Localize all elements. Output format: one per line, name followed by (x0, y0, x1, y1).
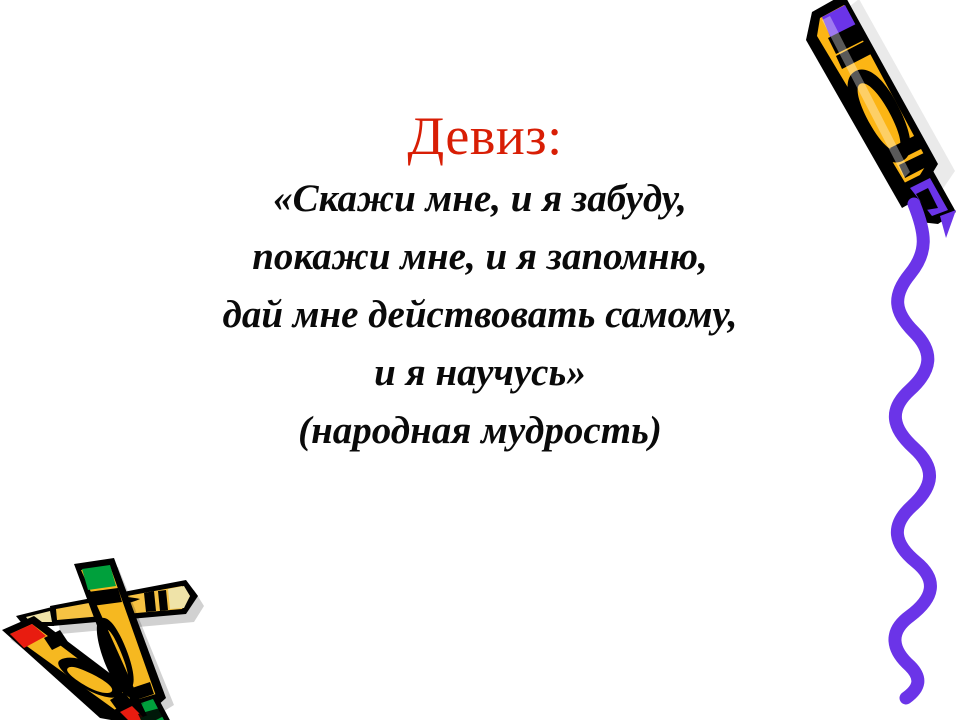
quote-line-1: «Скажи мне, и я забуду, (60, 179, 900, 218)
slide-text-block: Девиз: «Скажи мне, и я забуду, покажи мн… (60, 108, 900, 450)
presentation-slide: Девиз: «Скажи мне, и я забуду, покажи мн… (0, 0, 960, 720)
quote-attribution: (народная мудрость) (60, 411, 900, 450)
crayon-cluster-icon (0, 548, 244, 720)
quote-line-2: покажи мне, и я запомню, (60, 237, 900, 276)
quote-line-3: дай мне действовать самому, (60, 295, 900, 334)
page-title: Девиз: (60, 108, 900, 165)
quote-line-4: и я научусь» (60, 353, 900, 392)
